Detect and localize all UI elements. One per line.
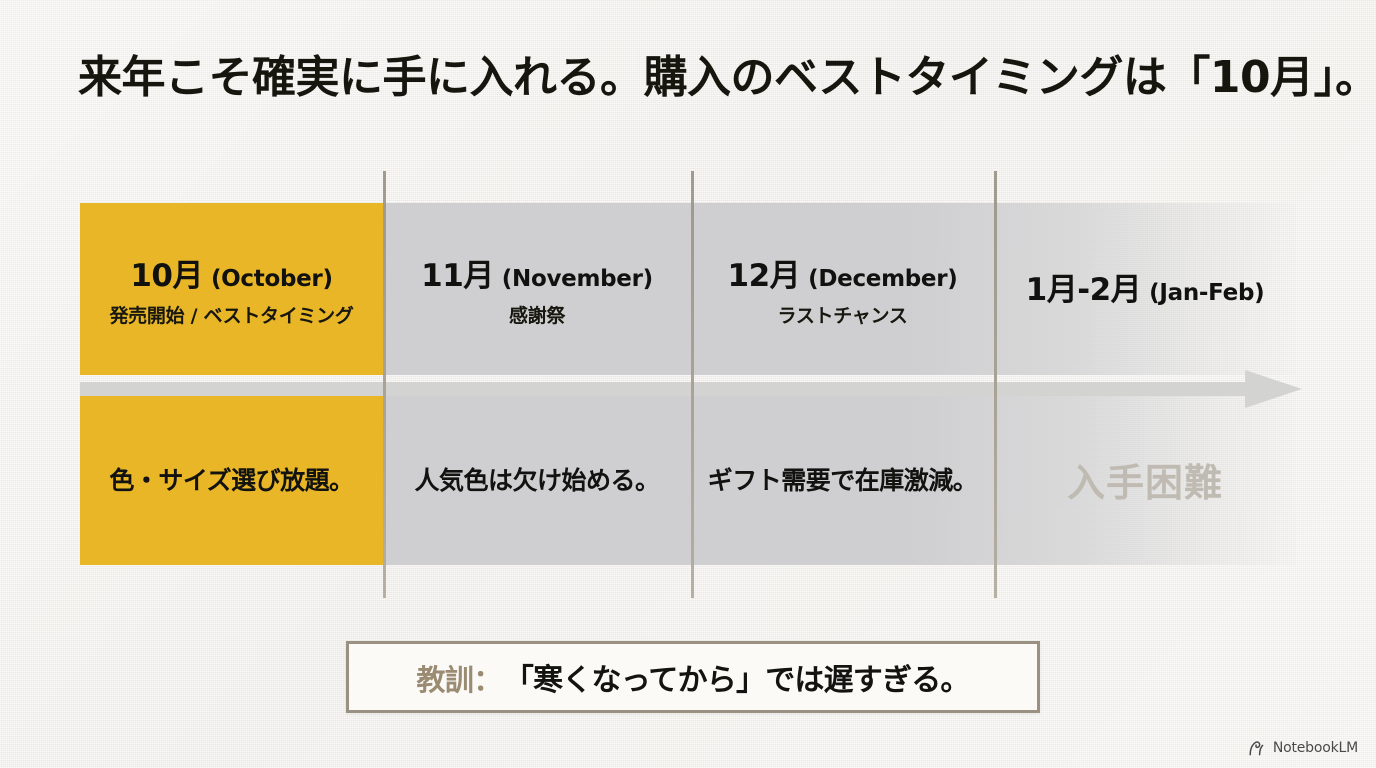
timeline-month-4: 1月-2月 (Jan-Feb) bbox=[1026, 264, 1265, 309]
timeline-month-jp-3: 12月 bbox=[728, 250, 801, 295]
page-title: 来年こそ確実に手に入れる。購入のベストタイミングは「10月」。 bbox=[78, 52, 1338, 105]
slide-canvas: 来年こそ確実に手に入れる。購入のベストタイミングは「10月」。 10月 (Oct… bbox=[0, 0, 1376, 768]
lesson-callout-label: 教訓： bbox=[416, 657, 502, 699]
timeline-month-jp-2: 11月 bbox=[421, 250, 494, 295]
timeline-month-en-3: (December) bbox=[808, 266, 957, 292]
timeline-body-text-4: 入手困難 bbox=[1067, 452, 1223, 507]
timeline-body-text-1: 色・サイズ選び放題。 bbox=[109, 461, 353, 497]
timeline-column-body-1: 色・サイズ選び放題。 bbox=[80, 393, 383, 565]
timeline-month-3: 12月 (December) bbox=[728, 250, 958, 295]
timeline-month-1: 10月 (October) bbox=[130, 250, 332, 295]
lesson-callout-text: 「寒くなってから」では遅すぎる。 bbox=[504, 655, 970, 699]
timeline-body-text-3: ギフト需要で在庫激減。 bbox=[708, 461, 978, 497]
timeline-sublabel-1: 発売開始 / ベストタイミング bbox=[109, 301, 353, 328]
timeline-sublabel-3: ラストチャンス bbox=[778, 301, 908, 328]
timeline-month-en-2: (November) bbox=[502, 266, 653, 292]
timeline-month-2: 11月 (November) bbox=[421, 250, 653, 295]
timeline-column-header-3: 12月 (December) ラストチャンス bbox=[691, 203, 994, 375]
notebooklm-watermark: NotebookLM bbox=[1249, 740, 1358, 756]
notebooklm-watermark-text: NotebookLM bbox=[1273, 740, 1358, 756]
lesson-callout-box: 教訓： 「寒くなってから」では遅すぎる。 bbox=[346, 641, 1040, 713]
timeline-column-body-2: 人気色は欠け始める。 bbox=[383, 393, 691, 565]
timeline-month-en-1: (October) bbox=[211, 266, 333, 292]
timeline-month-en-4: (Jan-Feb) bbox=[1149, 280, 1264, 306]
timeline-column-body-3: ギフト需要で在庫激減。 bbox=[691, 393, 994, 565]
timeline-month-jp-1: 10月 bbox=[130, 250, 203, 295]
timeline-column-header-4: 1月-2月 (Jan-Feb) bbox=[994, 203, 1296, 375]
timeline-month-jp-4: 1月-2月 bbox=[1026, 264, 1142, 309]
timeline-column-header-2: 11月 (November) 感謝祭 bbox=[383, 203, 691, 375]
timeline-column-body-4: 入手困難 bbox=[994, 393, 1296, 565]
timeline-column-header-1: 10月 (October) 発売開始 / ベストタイミング bbox=[80, 203, 383, 375]
lesson-callout-content: 教訓： 「寒くなってから」では遅すぎる。 bbox=[416, 655, 969, 699]
notebooklm-logo-icon bbox=[1249, 741, 1266, 756]
timeline-sublabel-2: 感謝祭 bbox=[509, 301, 565, 328]
timeline-body-text-2: 人気色は欠け始める。 bbox=[414, 461, 659, 497]
